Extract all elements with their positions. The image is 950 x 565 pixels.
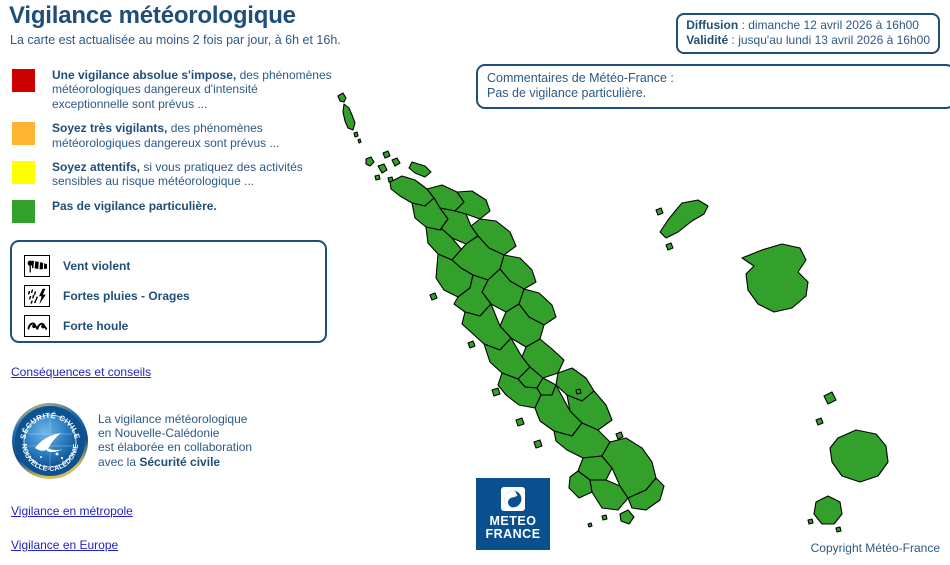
securite-civile-block: SÉCURITÉ CIVILE NOUVELLE-CALÉDONIE La vi… (11, 402, 252, 480)
legend-text-yellow: Soyez attentifs, si vous pratiquez des a… (52, 160, 332, 189)
secu-text-line4-bold: Sécurité civile (139, 455, 220, 469)
phenomena-label-swell: Forte houle (63, 319, 128, 333)
vigilance-map-svg (330, 90, 950, 550)
map-region-belep-islet2 (358, 139, 361, 143)
phenomena-row-rain: Fortes pluies - Orages (24, 281, 325, 311)
link-consequences-et-conseils[interactable]: Conséquences et conseils (11, 365, 151, 379)
legend-swatch-red (12, 69, 35, 92)
map-islet-east1 (576, 389, 581, 394)
legend-bold-green: Pas de vigilance particulière. (52, 199, 217, 213)
page-title: Vigilance météorologique (9, 2, 296, 30)
rain-thunderstorm-icon (24, 285, 50, 307)
map-islet-pins2 (836, 527, 841, 532)
legend-bold-red: Une vigilance absolue s'impose, (52, 68, 236, 82)
map-islet-west2 (468, 341, 475, 348)
map-islet-south1 (602, 515, 607, 520)
map-region-ile-des-pins (814, 496, 842, 524)
map-region-belep-main (343, 104, 355, 130)
secu-text-line2: en Nouvelle-Calédonie (98, 426, 252, 440)
validity-line: Validité : jusqu'au lundi 13 avril 2026 … (686, 33, 930, 48)
wind-sock-icon (24, 255, 50, 277)
map-region-belep-north (338, 93, 346, 102)
phenomena-row-wind: Vent violent (24, 251, 325, 281)
link-vigilance-europe[interactable]: Vigilance en Europe (11, 538, 118, 552)
map-region-mare (830, 430, 888, 482)
link-vigilance-metropole[interactable]: Vigilance en métropole (11, 504, 133, 518)
phenomena-label-wind: Vent violent (63, 259, 130, 273)
legend-swatch-orange (12, 122, 35, 145)
legend-text-red: Une vigilance absolue s'impose, des phén… (52, 68, 332, 111)
map-region-tiga-islet (816, 418, 823, 425)
map-islet-tiny1 (375, 175, 380, 180)
map-region-ouvea-islet1 (656, 208, 663, 215)
validity-value: : jusqu'au lundi 13 avril 2026 à 16h00 (728, 33, 930, 47)
map-islet-ouen (620, 510, 634, 524)
map-islet-balabio (409, 162, 431, 177)
map-islet-south2 (588, 523, 592, 527)
map-islet-west3 (492, 388, 500, 396)
map-islet-baaba (392, 158, 400, 166)
diffusion-label: Diffusion (686, 18, 738, 32)
legend-bold-yellow: Soyez attentifs, (52, 160, 140, 174)
phenomena-label-rain: Fortes pluies - Orages (63, 289, 190, 303)
diffusion-value: : dimanche 12 avril 2026 à 16h00 (738, 18, 919, 32)
map-islet-pins1 (808, 519, 813, 524)
map-islet-yande (366, 157, 374, 166)
map-islet-poum-north (378, 164, 387, 173)
heavy-swell-icon (24, 315, 50, 337)
secu-text-line4-prefix: avec la (98, 455, 139, 469)
map-islet-west4 (516, 418, 524, 426)
phenomena-row-swell: Forte houle (24, 311, 325, 341)
map-region-lifou (742, 244, 808, 312)
map-commune-poum (390, 176, 434, 206)
phenomena-legend-box: Vent violent Fortes pluies - Orages (10, 240, 327, 343)
secu-text-line1: La vigilance météorologique (98, 412, 252, 426)
secu-text-line3: est élaborée en collaboration (98, 440, 252, 454)
legend-row-yellow: Soyez attentifs, si vous pratiquez des a… (12, 160, 332, 189)
vigilance-color-legend: Une vigilance absolue s'impose, des phén… (12, 68, 332, 233)
legend-text-orange: Soyez très vigilants, des phénomènes mét… (52, 121, 332, 150)
legend-row-green: Pas de vigilance particulière. (12, 199, 332, 223)
map-region-ouvea (660, 200, 708, 238)
page-subtitle: La carte est actualisée au moins 2 fois … (10, 33, 341, 47)
map-islet-east2 (616, 432, 623, 439)
vigilance-map[interactable] (330, 90, 950, 550)
map-region-tiga (824, 392, 836, 404)
validity-label: Validité (686, 33, 728, 47)
legend-swatch-yellow (12, 161, 35, 184)
diffusion-validity-box: Diffusion : dimanche 12 avril 2026 à 16h… (676, 13, 940, 54)
map-islet-west5 (534, 440, 542, 448)
comments-heading: Commentaires de Météo-France : (487, 71, 945, 86)
securite-civile-logo: SÉCURITÉ CIVILE NOUVELLE-CALÉDONIE (11, 402, 89, 480)
secu-text-line4: avec la Sécurité civile (98, 455, 252, 469)
map-islet-west1 (430, 293, 437, 300)
legend-row-orange: Soyez très vigilants, des phénomènes mét… (12, 121, 332, 150)
legend-text-green: Pas de vigilance particulière. (52, 199, 217, 213)
map-region-belep-islet1 (354, 132, 358, 137)
legend-bold-orange: Soyez très vigilants, (52, 121, 167, 135)
securite-civile-text: La vigilance météorologique en Nouvelle-… (98, 412, 252, 469)
diffusion-line: Diffusion : dimanche 12 avril 2026 à 16h… (686, 18, 930, 33)
map-islet-art (383, 151, 390, 158)
legend-swatch-green (12, 200, 35, 223)
map-region-ouvea-islet2 (666, 243, 673, 250)
legend-row-red: Une vigilance absolue s'impose, des phén… (12, 68, 332, 111)
